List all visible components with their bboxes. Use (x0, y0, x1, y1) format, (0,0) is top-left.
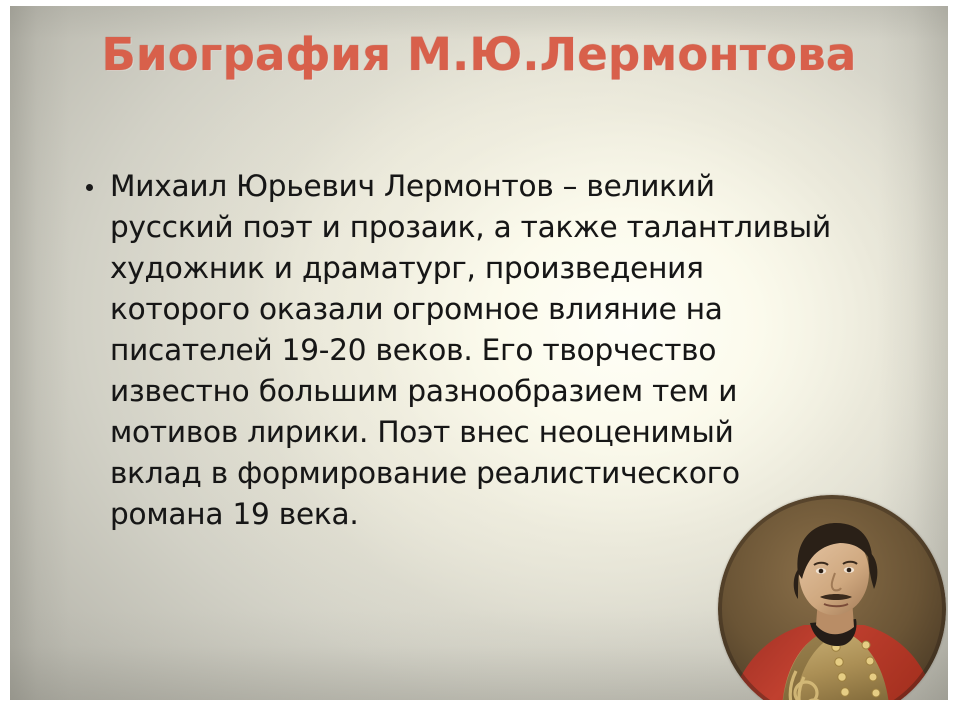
bullet-item: Михаил Юрьевич Лермонтов – великий русск… (72, 166, 932, 535)
background-shade-left (10, 6, 70, 700)
slide-canvas: Биография М.Ю.Лермонтова Михаил Юрьевич … (10, 6, 948, 700)
slide-title: Биография М.Ю.Лермонтова (10, 28, 948, 81)
slide-frame: Биография М.Ю.Лермонтова Михаил Юрьевич … (0, 0, 960, 720)
slide-body: Михаил Юрьевич Лермонтов – великий русск… (72, 166, 932, 535)
bullet-dot-icon (86, 184, 93, 191)
bullet-paragraph: Михаил Юрьевич Лермонтов – великий русск… (110, 166, 932, 535)
